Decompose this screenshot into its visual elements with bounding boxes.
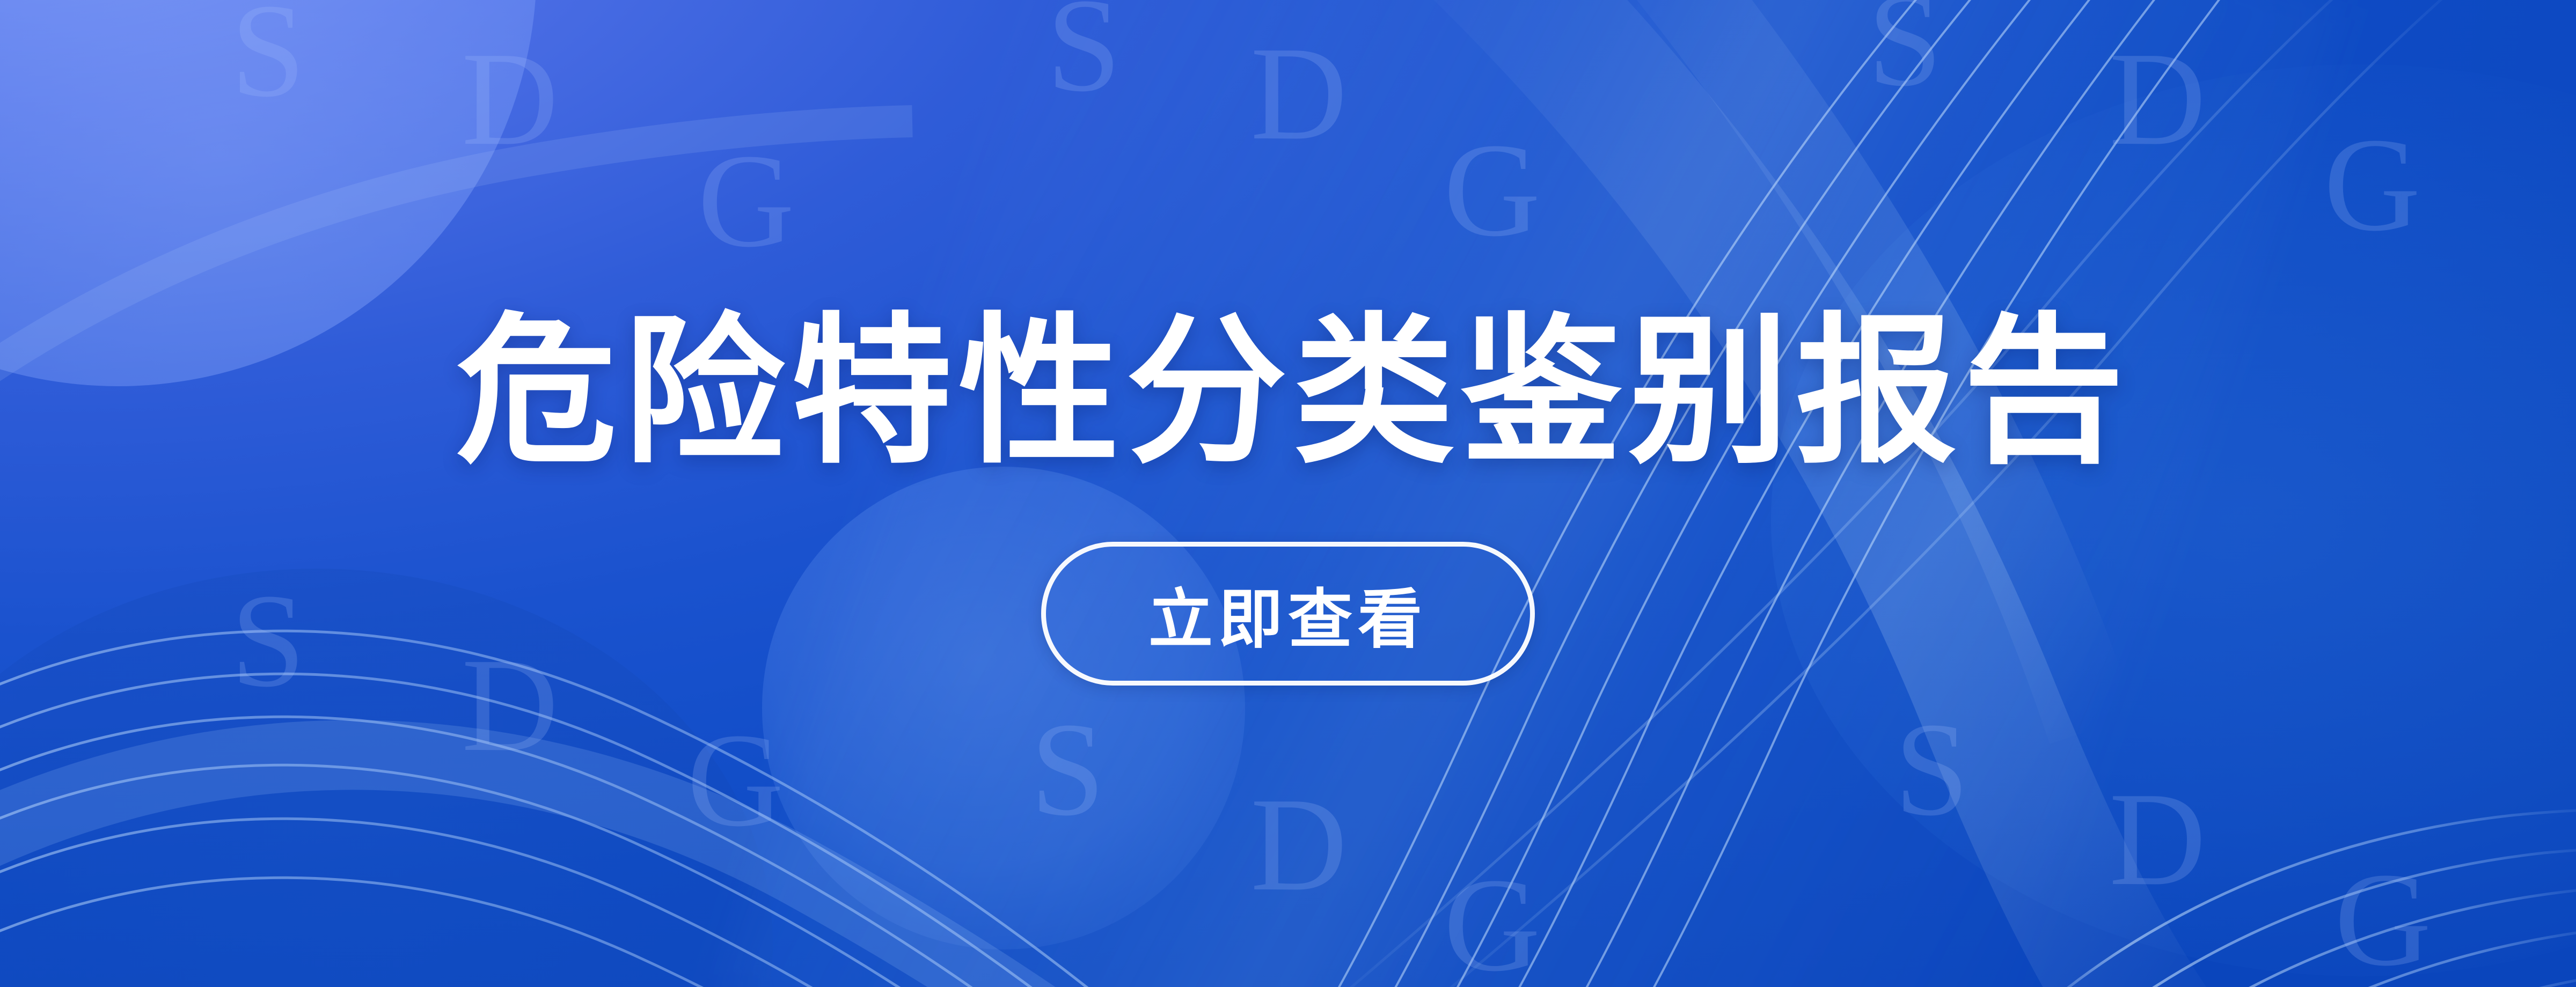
promo-banner: SDGSDGSDGSDGSDGSDG 危险特性分类鉴别报告 立即查看	[0, 0, 2576, 987]
banner-title: 危险特性分类鉴别报告	[456, 301, 2131, 482]
banner-content: 危险特性分类鉴别报告 立即查看	[0, 0, 2576, 987]
view-now-button[interactable]: 立即查看	[1041, 542, 1535, 686]
